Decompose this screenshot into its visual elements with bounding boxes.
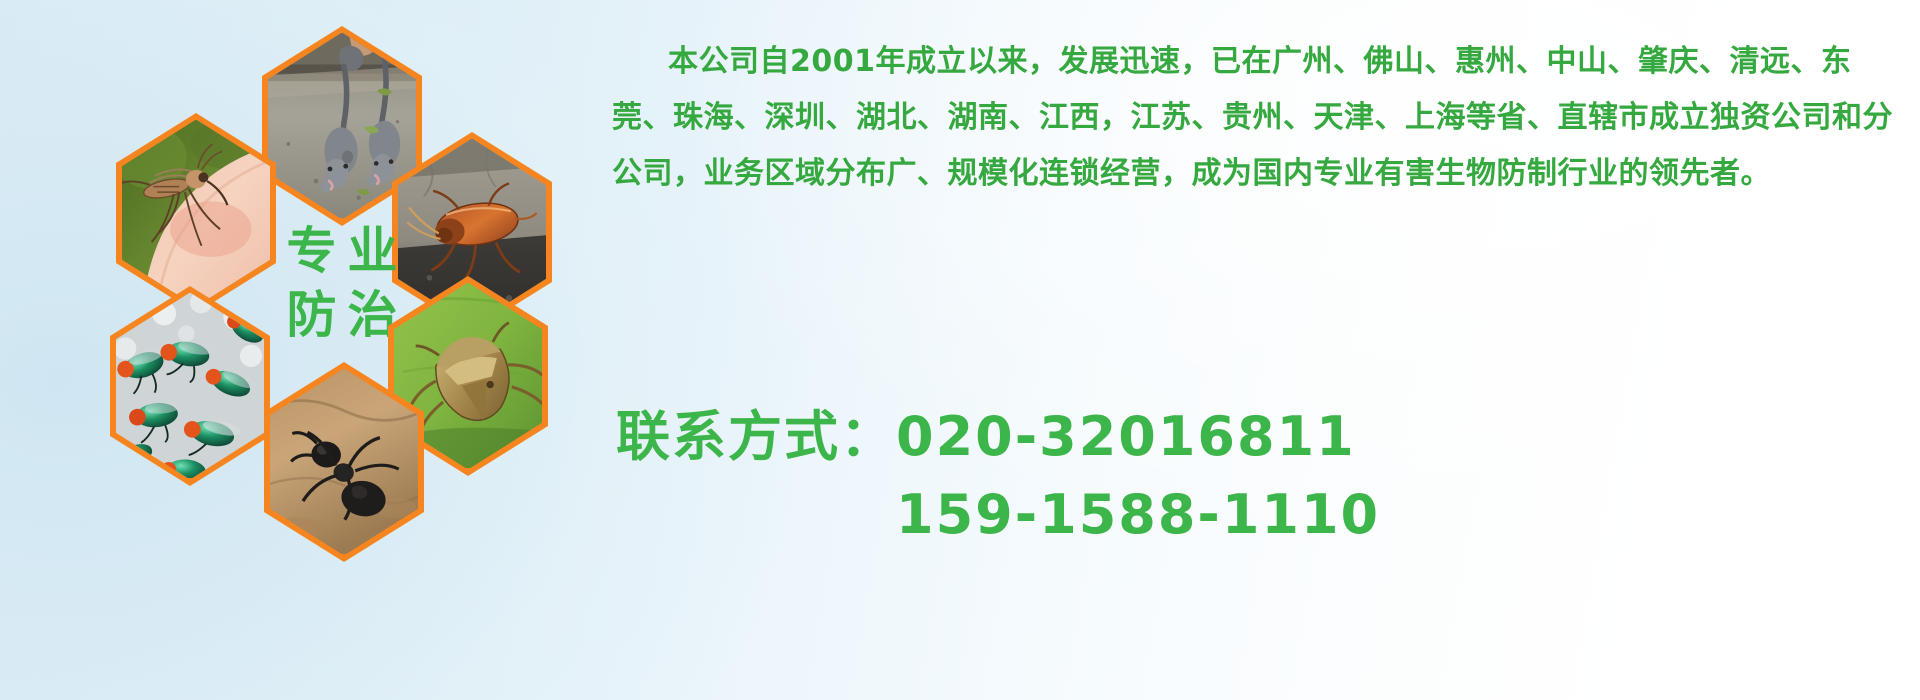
ant-photo <box>270 369 418 554</box>
contact-secondary-line: 159-1588-1110 <box>616 476 1716 554</box>
about-copy: 本公司自2001年成立以来，发展迅速，已在广州、佛山、惠州、中山、肇庆、清远、东… <box>612 34 1902 202</box>
hex-ant-inner <box>270 369 418 556</box>
contact-phone-primary[interactable]: 020-32016811 <box>896 405 1356 468</box>
honeycomb-cluster: 专业 防治 <box>0 0 600 600</box>
contact-phone-secondary[interactable]: 159-1588-1110 <box>896 483 1380 546</box>
hex-flies-inner <box>116 293 264 480</box>
hex-flies[interactable] <box>110 286 270 486</box>
hex-mosquito-inner <box>122 120 270 307</box>
contact-label: 联系方式： <box>616 405 896 468</box>
about-paragraph: 本公司自2001年成立以来，发展迅速，已在广州、佛山、惠州、中山、肇庆、清远、东… <box>612 34 1902 202</box>
flies-photo <box>116 293 264 478</box>
contact-primary-line: 联系方式：020-32016811 <box>616 398 1716 476</box>
promo-banner: 专业 防治 <box>0 0 1920 700</box>
mosquito-photo <box>122 120 270 305</box>
hex-mosquito[interactable] <box>116 113 276 313</box>
logo-line-1: 专业 <box>276 226 409 276</box>
contact-block: 联系方式：020-32016811 159-1588-1110 <box>616 398 1716 554</box>
